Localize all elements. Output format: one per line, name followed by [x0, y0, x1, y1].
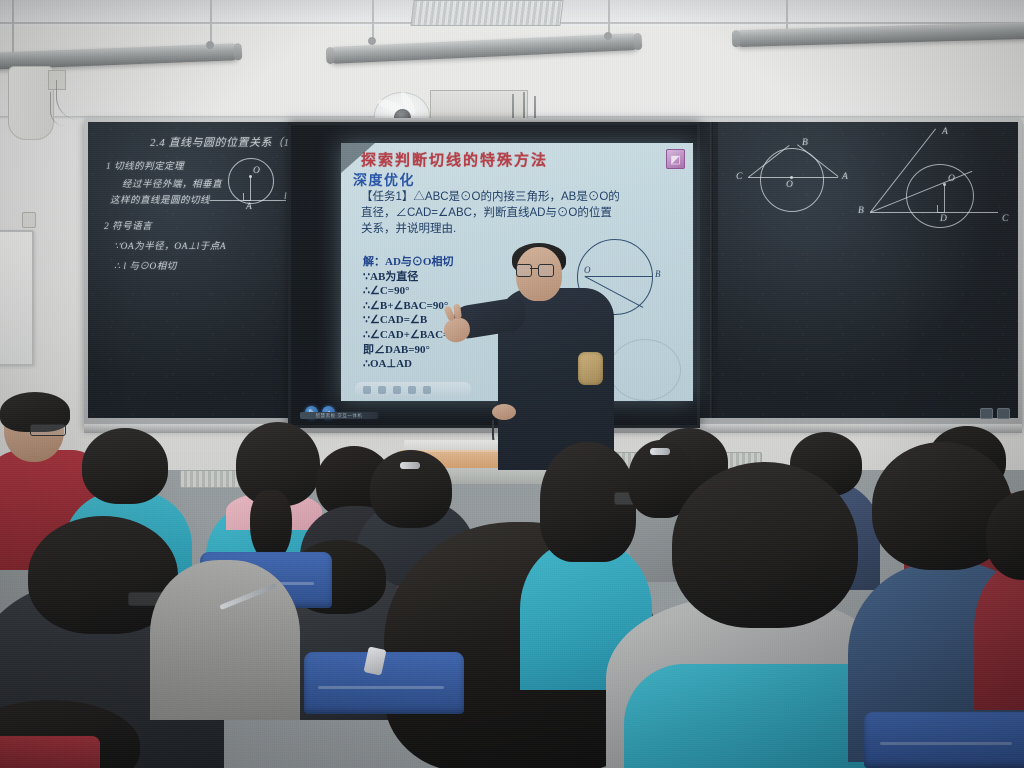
board-track-divider [710, 122, 713, 418]
right-board2-label-B: B [858, 206, 864, 216]
slide-diagram-label-B: B [655, 269, 661, 279]
wall-whiteboard [0, 230, 34, 366]
left-board-heading: 2.4 直线与圆的位置关系（1） [150, 134, 301, 150]
chair-back-red [0, 736, 100, 768]
right-board1-label-A: A [842, 172, 848, 182]
power-button[interactable] [980, 408, 993, 419]
smartboard-bezel-label: 智慧黑板 交互一体机 [300, 412, 378, 419]
teacher-resting-hand [492, 404, 516, 420]
teacher-glasses [516, 264, 552, 275]
smartboard-button-group[interactable] [980, 408, 1010, 419]
right-board2-label-O: O [948, 174, 955, 184]
center-dot [790, 176, 793, 179]
right-board2-label-C: C [1002, 214, 1009, 224]
light-hanger-knob [368, 37, 376, 45]
left-board-line: 2 符号语言 [104, 218, 152, 232]
input-button[interactable] [997, 408, 1010, 419]
light-hanger-knob [604, 32, 612, 40]
classroom-photo: 2.4 直线与圆的位置关系（1） 1 切线的判定定理 经过半径外端，相垂直 这样… [0, 0, 1024, 768]
left-board-label-l: l [284, 192, 287, 202]
slide-body-line: 关系，并说明理由. [361, 221, 661, 237]
light-hanger [210, 0, 212, 44]
chair-back [864, 712, 1024, 768]
right-angle-mark [937, 205, 945, 213]
left-board-circle [228, 158, 274, 204]
light-hanger [12, 0, 14, 52]
redo-icon[interactable] [378, 386, 386, 394]
light-hanger [786, 0, 788, 32]
left-board-line: 1 切线的判定定理 [106, 158, 184, 172]
right-board-chord-CA [748, 177, 838, 178]
slide-body: 【任务1】△ABC是⊙O的内接三角形，AB是⊙O的 直径，∠CAD=∠ABC，判… [361, 189, 661, 237]
right-angle-mark [243, 193, 251, 201]
slide-title: 探索判断切线的特殊方法 [361, 149, 548, 170]
slide-toolbar-strip[interactable] [355, 382, 471, 397]
center-dot [249, 175, 252, 178]
right-board2-label-A: A [942, 127, 948, 137]
wall-outlet [22, 212, 36, 228]
smartboard-screen[interactable]: 探索判断切线的特殊方法 深度优化 ◩ 【任务1】△ABC是⊙O的内接三角形，AB… [288, 122, 700, 428]
right-board1-label-C: C [736, 172, 743, 182]
center-dot [943, 183, 946, 186]
right-board1-label-O: O [786, 180, 793, 190]
light-hanger-knob [206, 41, 214, 49]
slide-ghost-circle [609, 339, 681, 401]
shape-icon[interactable] [408, 386, 416, 394]
right-board1-label-B: B [802, 138, 808, 148]
right-board-line-BC [870, 212, 998, 213]
student-torso [150, 560, 300, 720]
student-hair [82, 428, 168, 504]
slide-logo-icon: ◩ [666, 149, 685, 169]
teacher-sleeve-patch [578, 352, 603, 385]
left-board-line: 这样的直线是圆的切线 [110, 192, 210, 206]
adult-glasses [30, 424, 66, 436]
student-hair [672, 462, 858, 628]
slide-subtitle: 深度优化 [353, 170, 415, 190]
left-board-line: ∴ l 与⊙O相切 [114, 258, 177, 272]
left-board-line: ∵OA为半径，OA⊥l于点A [114, 238, 226, 252]
left-board-line: 经过半径外端，相垂直 [122, 176, 222, 190]
slide-body-line: 【任务1】△ABC是⊙O的内接三角形，AB是⊙O的 [361, 189, 661, 205]
left-board-label-A: A [246, 202, 252, 212]
undo-icon[interactable] [363, 386, 371, 394]
more-icon[interactable] [423, 386, 431, 394]
left-board-label-O: O [253, 166, 260, 176]
hair-clip [400, 462, 420, 469]
right-board2-label-D: D [940, 214, 947, 224]
slide-diagram-label-O: O [584, 265, 591, 275]
ceiling-vent-panel [410, 0, 563, 26]
grid-icon[interactable] [393, 386, 401, 394]
slide-body-line: 直径，∠CAD=∠ABC，判断直线AD与⊙O的位置 [361, 205, 661, 221]
hair-clip [650, 448, 670, 455]
slide-diagram-radius-OB [585, 276, 653, 277]
right-chalkboard: B C A O A B C D O [718, 122, 1018, 418]
